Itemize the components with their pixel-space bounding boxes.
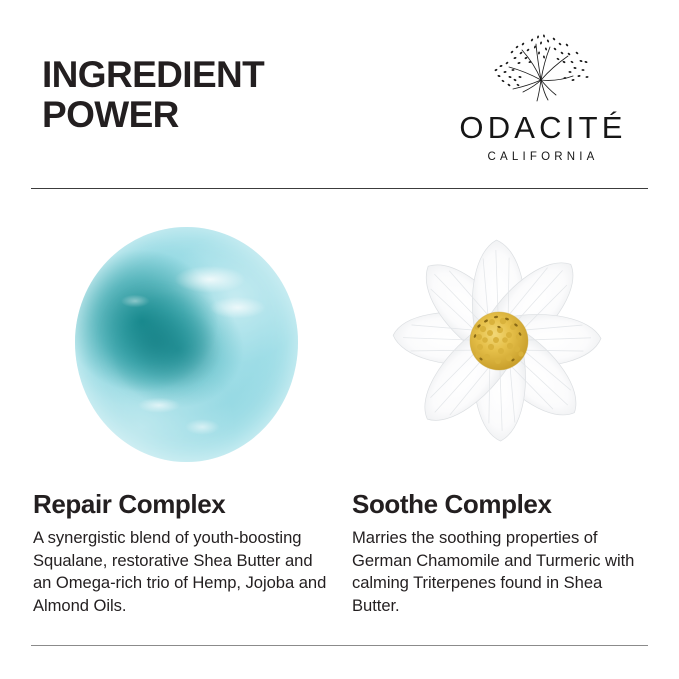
brand-logo: ODACITÉ CALIFORNIA bbox=[435, 32, 647, 164]
brand-tagline: CALIFORNIA bbox=[435, 152, 647, 164]
umbel-flower-logo-icon bbox=[482, 32, 600, 106]
page-title: INGREDIENT POWER bbox=[42, 55, 264, 135]
complex-title: Repair Complex bbox=[33, 491, 328, 518]
divider-top bbox=[31, 188, 648, 189]
divider-bottom bbox=[31, 645, 648, 646]
repair-complex-visual bbox=[31, 205, 328, 465]
brand-wordmark: ODACITÉ bbox=[435, 112, 647, 143]
complex-body: Marries the soothing properties of Germa… bbox=[352, 527, 647, 617]
complex-title: Soothe Complex bbox=[352, 491, 647, 518]
complex-columns: Repair Complex A synergistic blend of yo… bbox=[31, 205, 648, 617]
white-cosmos-flower-image bbox=[372, 219, 626, 469]
column-repair-complex: Repair Complex A synergistic blend of yo… bbox=[31, 205, 328, 617]
blue-cream-swatch-image bbox=[75, 227, 298, 462]
column-soothe-complex: Soothe Complex Marries the soothing prop… bbox=[350, 205, 647, 617]
header: INGREDIENT POWER bbox=[31, 28, 648, 168]
ingredient-power-infographic: INGREDIENT POWER bbox=[0, 0, 679, 679]
complex-body: A synergistic blend of youth-boosting Sq… bbox=[33, 527, 328, 617]
cosmos-flower-icon bbox=[372, 219, 626, 469]
soothe-complex-visual bbox=[350, 205, 647, 465]
